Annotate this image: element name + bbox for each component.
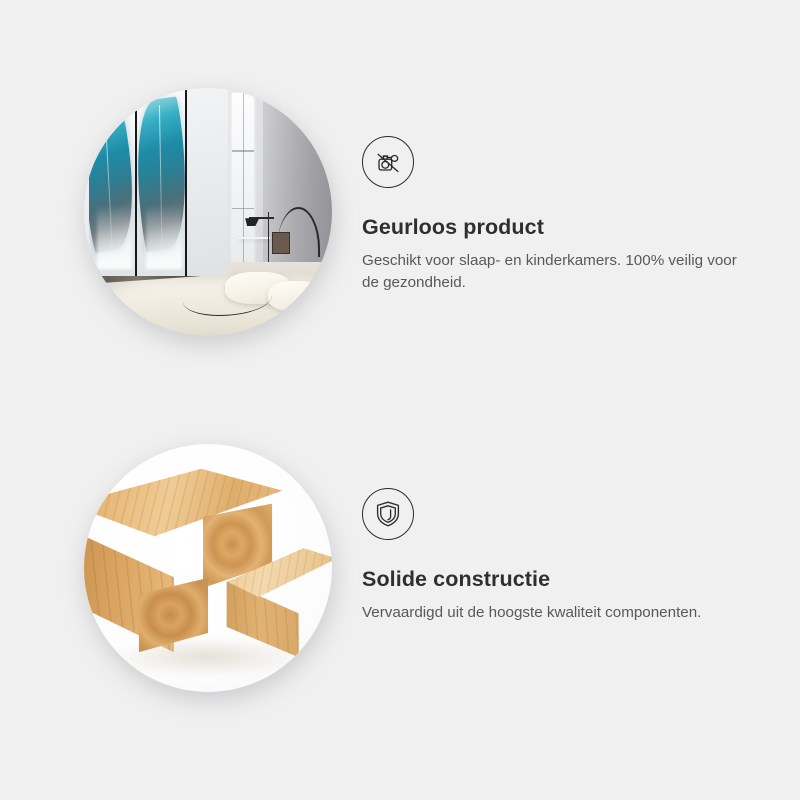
- bedroom-scene: [84, 88, 332, 336]
- feature-page: Geurloos product Geschikt voor slaap- en…: [0, 0, 800, 800]
- feature-title: Geurloos product: [362, 215, 762, 241]
- feature-block-solide-constructie: Solide constructie Vervaardigd uit de ho…: [0, 420, 800, 720]
- feature-title: Solide constructie: [362, 567, 762, 593]
- pillow: [268, 281, 323, 311]
- wooden-beams-scene: [84, 444, 332, 692]
- feature-description: Geschikt voor slaap- en kinderkamers. 10…: [362, 250, 747, 295]
- feather-canvas-triptych: [89, 88, 228, 276]
- feature-text-column: Solide constructie Vervaardigd uit de ho…: [362, 488, 762, 624]
- feature-block-geurloos-product: Geurloos product Geschikt voor slaap- en…: [0, 60, 800, 380]
- shield-icon: [362, 488, 414, 540]
- canvas-panel: [187, 88, 228, 276]
- product-image-circle-wood: [84, 444, 332, 692]
- feature-text-column: Geurloos product Geschikt voor slaap- en…: [362, 136, 762, 295]
- no-fragrance-icon: [362, 136, 414, 188]
- shield-glyph: [372, 498, 404, 530]
- side-table: [238, 237, 270, 239]
- product-image-circle-bedroom: [84, 88, 332, 336]
- picture-frame: [272, 232, 289, 254]
- product-image-inner: [84, 444, 332, 692]
- room-window: [232, 93, 254, 267]
- feature-description: Vervaardigd uit de hoogste kwaliteit com…: [362, 602, 747, 625]
- feather-wisp: [146, 205, 183, 269]
- window-mullion: [243, 93, 245, 267]
- product-image-inner: [84, 88, 332, 336]
- canvas-panel: [89, 88, 135, 276]
- feather-wisp: [97, 205, 132, 269]
- canvas-panel: [137, 88, 186, 276]
- lamp-stand: [268, 212, 270, 267]
- no-fragrance-glyph: [371, 145, 405, 179]
